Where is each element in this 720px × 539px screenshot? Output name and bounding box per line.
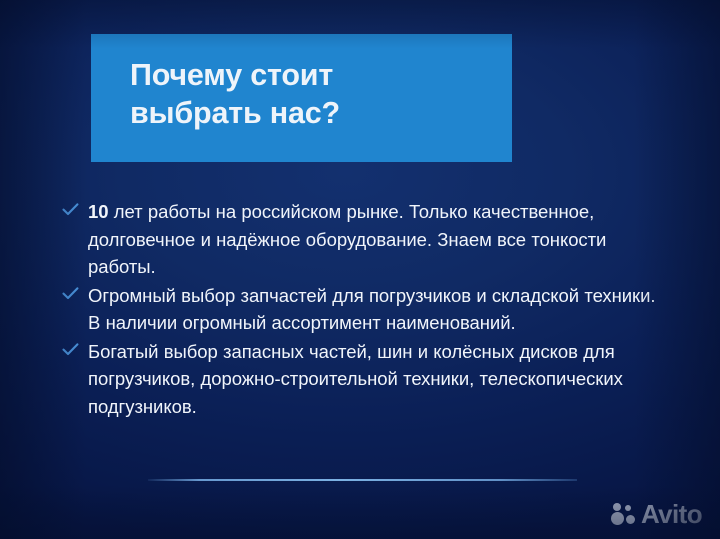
list-item: Огромный выбор запчастей для погрузчиков…: [62, 282, 672, 337]
avito-dot-medium: [626, 515, 635, 524]
page-title-line-2: выбрать нас?: [130, 94, 512, 132]
list-item: 10 лет работы на российском рынке. Тольк…: [62, 198, 672, 281]
avito-dot-small: [613, 503, 621, 511]
divider-rule: [148, 479, 577, 481]
list-item-body: Огромный выбор запчастей для погрузчиков…: [88, 285, 655, 334]
list-item-body: Богатый выбор запасных частей, шин и кол…: [88, 341, 623, 417]
list-item-lead: 10: [88, 201, 108, 222]
check-icon: [62, 282, 88, 300]
avito-dots-icon: [611, 501, 637, 527]
slide-canvas: Почему стоит выбрать нас? 10 лет работы …: [0, 0, 720, 539]
list-item-body: лет работы на российском рынке. Только к…: [88, 201, 606, 277]
list-item-text: 10 лет работы на российском рынке. Тольк…: [88, 198, 672, 281]
page-title-line-1: Почему стоит: [130, 56, 512, 94]
list-item-text: Богатый выбор запасных частей, шин и кол…: [88, 338, 672, 421]
title-panel: Почему стоит выбрать нас?: [91, 34, 512, 162]
check-icon: [62, 198, 88, 216]
benefits-list: 10 лет работы на российском рынке. Тольк…: [62, 198, 672, 421]
check-icon: [62, 338, 88, 356]
avito-watermark: Avito: [611, 501, 702, 527]
avito-dot-xsmall: [625, 505, 631, 511]
avito-dot-large: [611, 512, 624, 525]
list-item-text: Огромный выбор запчастей для погрузчиков…: [88, 282, 672, 337]
avito-wordmark: Avito: [641, 501, 702, 527]
list-item: Богатый выбор запасных частей, шин и кол…: [62, 338, 672, 421]
